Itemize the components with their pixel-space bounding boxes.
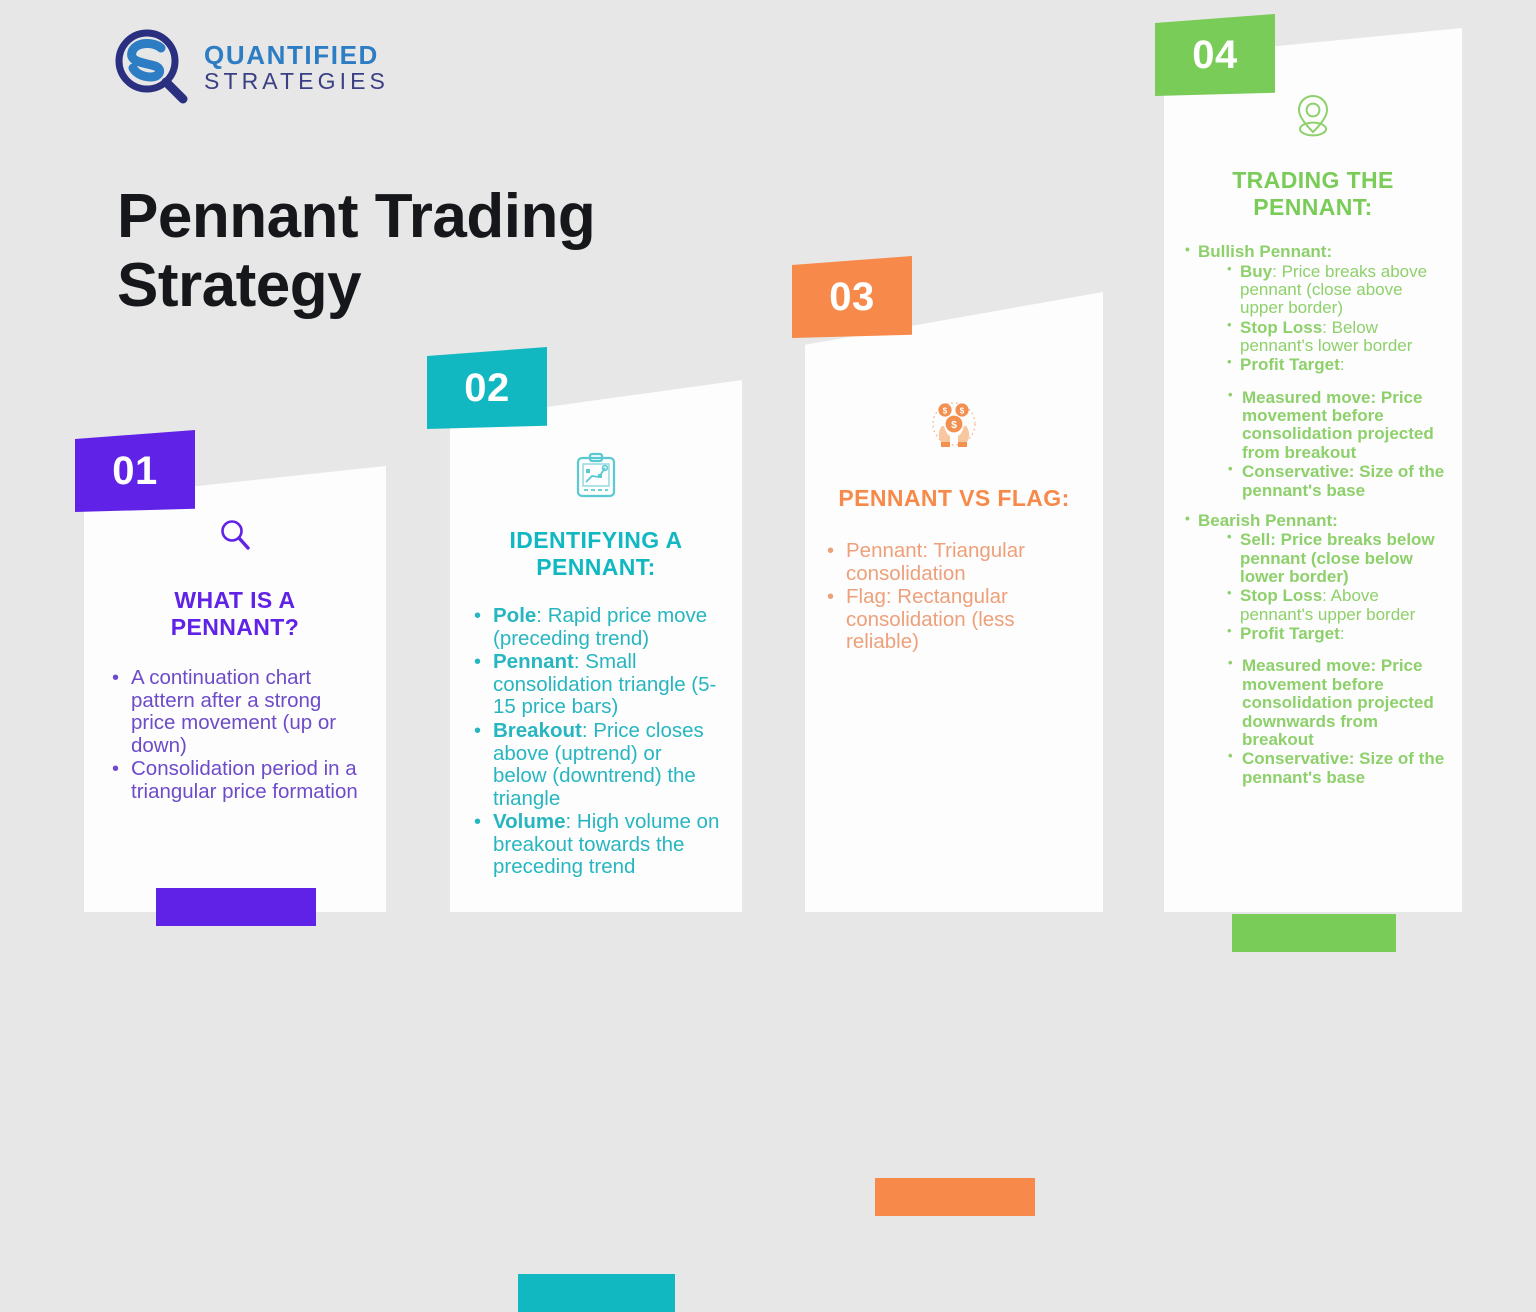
list-item: Sell: Price breaks below pennant (close … [1224,531,1445,586]
list-item: A continuation chart pattern after a str… [110,667,360,757]
list-item: Measured move: Price movement before con… [1226,389,1445,462]
card-03-pennant-vs-flag: 03 $ $ $ PENNANT VS FLAG: Pennant: Trian… [805,292,1103,912]
list-item: Conservative: Size of the pennant's base [1226,463,1445,500]
list-item-bearish-pennant: Bearish Pennant: Sell: Price breaks belo… [1181,512,1445,787]
list-item: Profit Target: [1224,356,1445,374]
card-01-number-badge: 01 [75,430,195,512]
card-02-bullet-list: Pole: Rapid price move (preceding trend)… [472,605,720,880]
list-item: Pennant: Small consolidation triangle (5… [472,651,720,719]
clipboard-chart-icon [574,452,618,505]
list-item: Conservative: Size of the pennant's base [1226,750,1445,787]
card-01-what-is-a-pennant: 01 WHAT IS A PENNANT? A continuation cha… [84,466,386,912]
bullish-items: Buy: Price breaks above pennant (close a… [1224,263,1445,375]
card-03-accent-bar [875,1178,1035,1216]
svg-text:$: $ [951,419,957,431]
card-04-number-badge: 04 [1155,14,1275,96]
card-04-trading-the-pennant: 04 TRADING THE PENNANT: Bullish Pennant:… [1164,28,1462,912]
list-item: Measured move: Price movement before con… [1226,657,1445,749]
list-item: Breakout: Price closes above (uptrend) o… [472,720,720,810]
card-01-accent-bar [156,888,316,926]
brand-name-line1: QUANTIFIED [204,42,389,68]
list-item: Buy: Price breaks above pennant (close a… [1224,263,1445,318]
brand-logo: QUANTIFIED STRATEGIES [113,28,389,106]
bearish-profit-target-subitems: Measured move: Price movement before con… [1226,657,1445,787]
card-01-bullet-list: A continuation chart pattern after a str… [110,667,360,804]
page-title: Pennant Trading Strategy [117,182,737,321]
svg-text:$: $ [960,406,965,415]
list-item: Consolidation period in a triangular pri… [110,758,360,803]
card-04-bullet-tree: Bullish Pennant: Buy: Price breaks above… [1181,243,1445,789]
card-01-heading: WHAT IS A PENNANT? [110,587,360,641]
card-02-identifying-a-pennant: 02 IDENTIFYING A PENNANT: Pole: Rapid pr… [450,380,742,912]
list-item: Stop Loss: Above pennant's upper border [1224,587,1445,624]
list-item: Flag: Rectangular consolidation (less re… [825,586,1083,654]
card-03-bullet-list: Pennant: Triangular consolidation Flag: … [825,540,1083,655]
bullish-profit-target-subitems: Measured move: Price movement before con… [1226,389,1445,500]
card-03-heading: PENNANT VS FLAG: [838,485,1069,512]
hands-holding-coins-icon: $ $ $ [928,400,980,455]
card-03-number-badge: 03 [792,256,912,338]
list-item-bullish-pennant: Bullish Pennant: Buy: Price breaks above… [1181,243,1445,500]
card-02-accent-bar [518,1274,675,1312]
card-02-heading: IDENTIFYING A PENNANT: [472,527,720,581]
location-pin-icon [1291,92,1335,145]
card-02-number-badge: 02 [427,347,547,429]
list-item: Pennant: Triangular consolidation [825,540,1083,585]
brand-name-line2: STRATEGIES [204,70,389,93]
list-item: Profit Target: [1224,625,1445,643]
list-item: Stop Loss: Below pennant's lower border [1224,319,1445,356]
card-04-accent-bar [1232,914,1396,952]
brand-wordmark: QUANTIFIED STRATEGIES [204,42,389,93]
magnifier-icon [216,516,254,559]
list-item: Pole: Rapid price move (preceding trend) [472,605,720,650]
magnifier-s-logo-icon [113,28,191,106]
svg-text:$: $ [943,406,948,415]
card-04-heading: TRADING THE PENNANT: [1181,167,1445,221]
bearish-items: Sell: Price breaks below pennant (close … [1224,531,1445,643]
list-item: Volume: High volume on breakout towards … [472,811,720,879]
